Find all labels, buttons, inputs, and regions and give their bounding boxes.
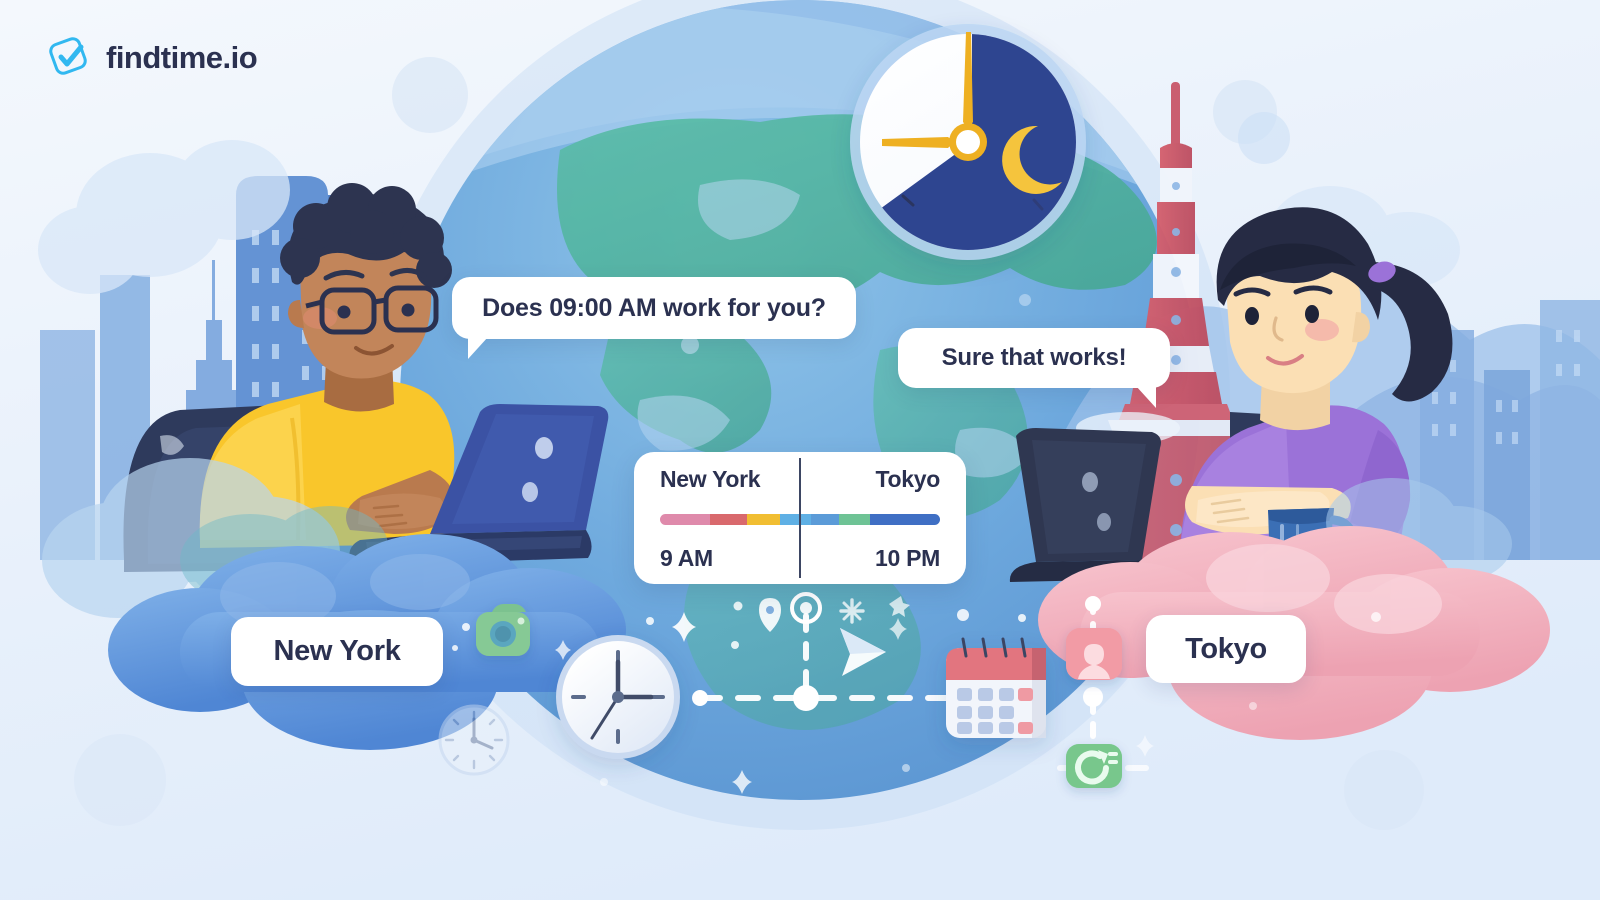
illustration-canvas: findtime.io Does 09:00 AM work for you? … [0, 0, 1600, 900]
comparison-divider [799, 458, 801, 578]
brand-wordmark: findtime.io [106, 40, 257, 76]
speech-bubble-right-text: Sure that works! [942, 344, 1127, 372]
comparison-right-time: 10 PM [875, 545, 940, 572]
city-label-tokyo[interactable]: Tokyo [1146, 615, 1306, 683]
timezone-bar-segment-morning [710, 514, 746, 525]
speech-bubble-left-text: Does 09:00 AM work for you? [482, 294, 826, 323]
brand-logo[interactable]: findtime.io [48, 36, 257, 80]
timezone-bar-segment-night [839, 514, 870, 525]
scene-artwork [0, 0, 1600, 900]
speech-bubble-right-tail [1130, 386, 1156, 408]
timezone-bar-segment-early-morning [660, 514, 710, 525]
sync-icon [1066, 744, 1122, 788]
small-clock-icon [440, 706, 508, 774]
calendar-icon [946, 639, 1046, 738]
comparison-right-city: Tokyo [875, 466, 940, 493]
comparison-left-city: New York [660, 466, 760, 493]
speech-bubble-left: Does 09:00 AM work for you? [452, 277, 856, 339]
timezone-bar-segment-evening [811, 514, 839, 525]
timezone-comparison-card[interactable]: New York Tokyo 9 AM 10 PM [634, 452, 966, 584]
diamond-check-icon [48, 36, 92, 80]
day-night-clock [850, 24, 1086, 260]
city-label-new-york[interactable]: New York [231, 617, 443, 686]
comparison-left-time: 9 AM [660, 545, 713, 572]
speech-bubble-right: Sure that works! [898, 328, 1170, 388]
wall-clock-icon [556, 635, 680, 759]
timezone-bar-segment-midday [747, 514, 781, 525]
city-label-tokyo-text: Tokyo [1185, 633, 1267, 666]
speech-bubble-left-tail [468, 337, 494, 359]
city-label-new-york-text: New York [273, 635, 400, 668]
timezone-bar-segment-late-night [870, 514, 940, 525]
timezone-bar-segment-afternoon [780, 514, 811, 525]
contact-icon [1066, 628, 1122, 680]
